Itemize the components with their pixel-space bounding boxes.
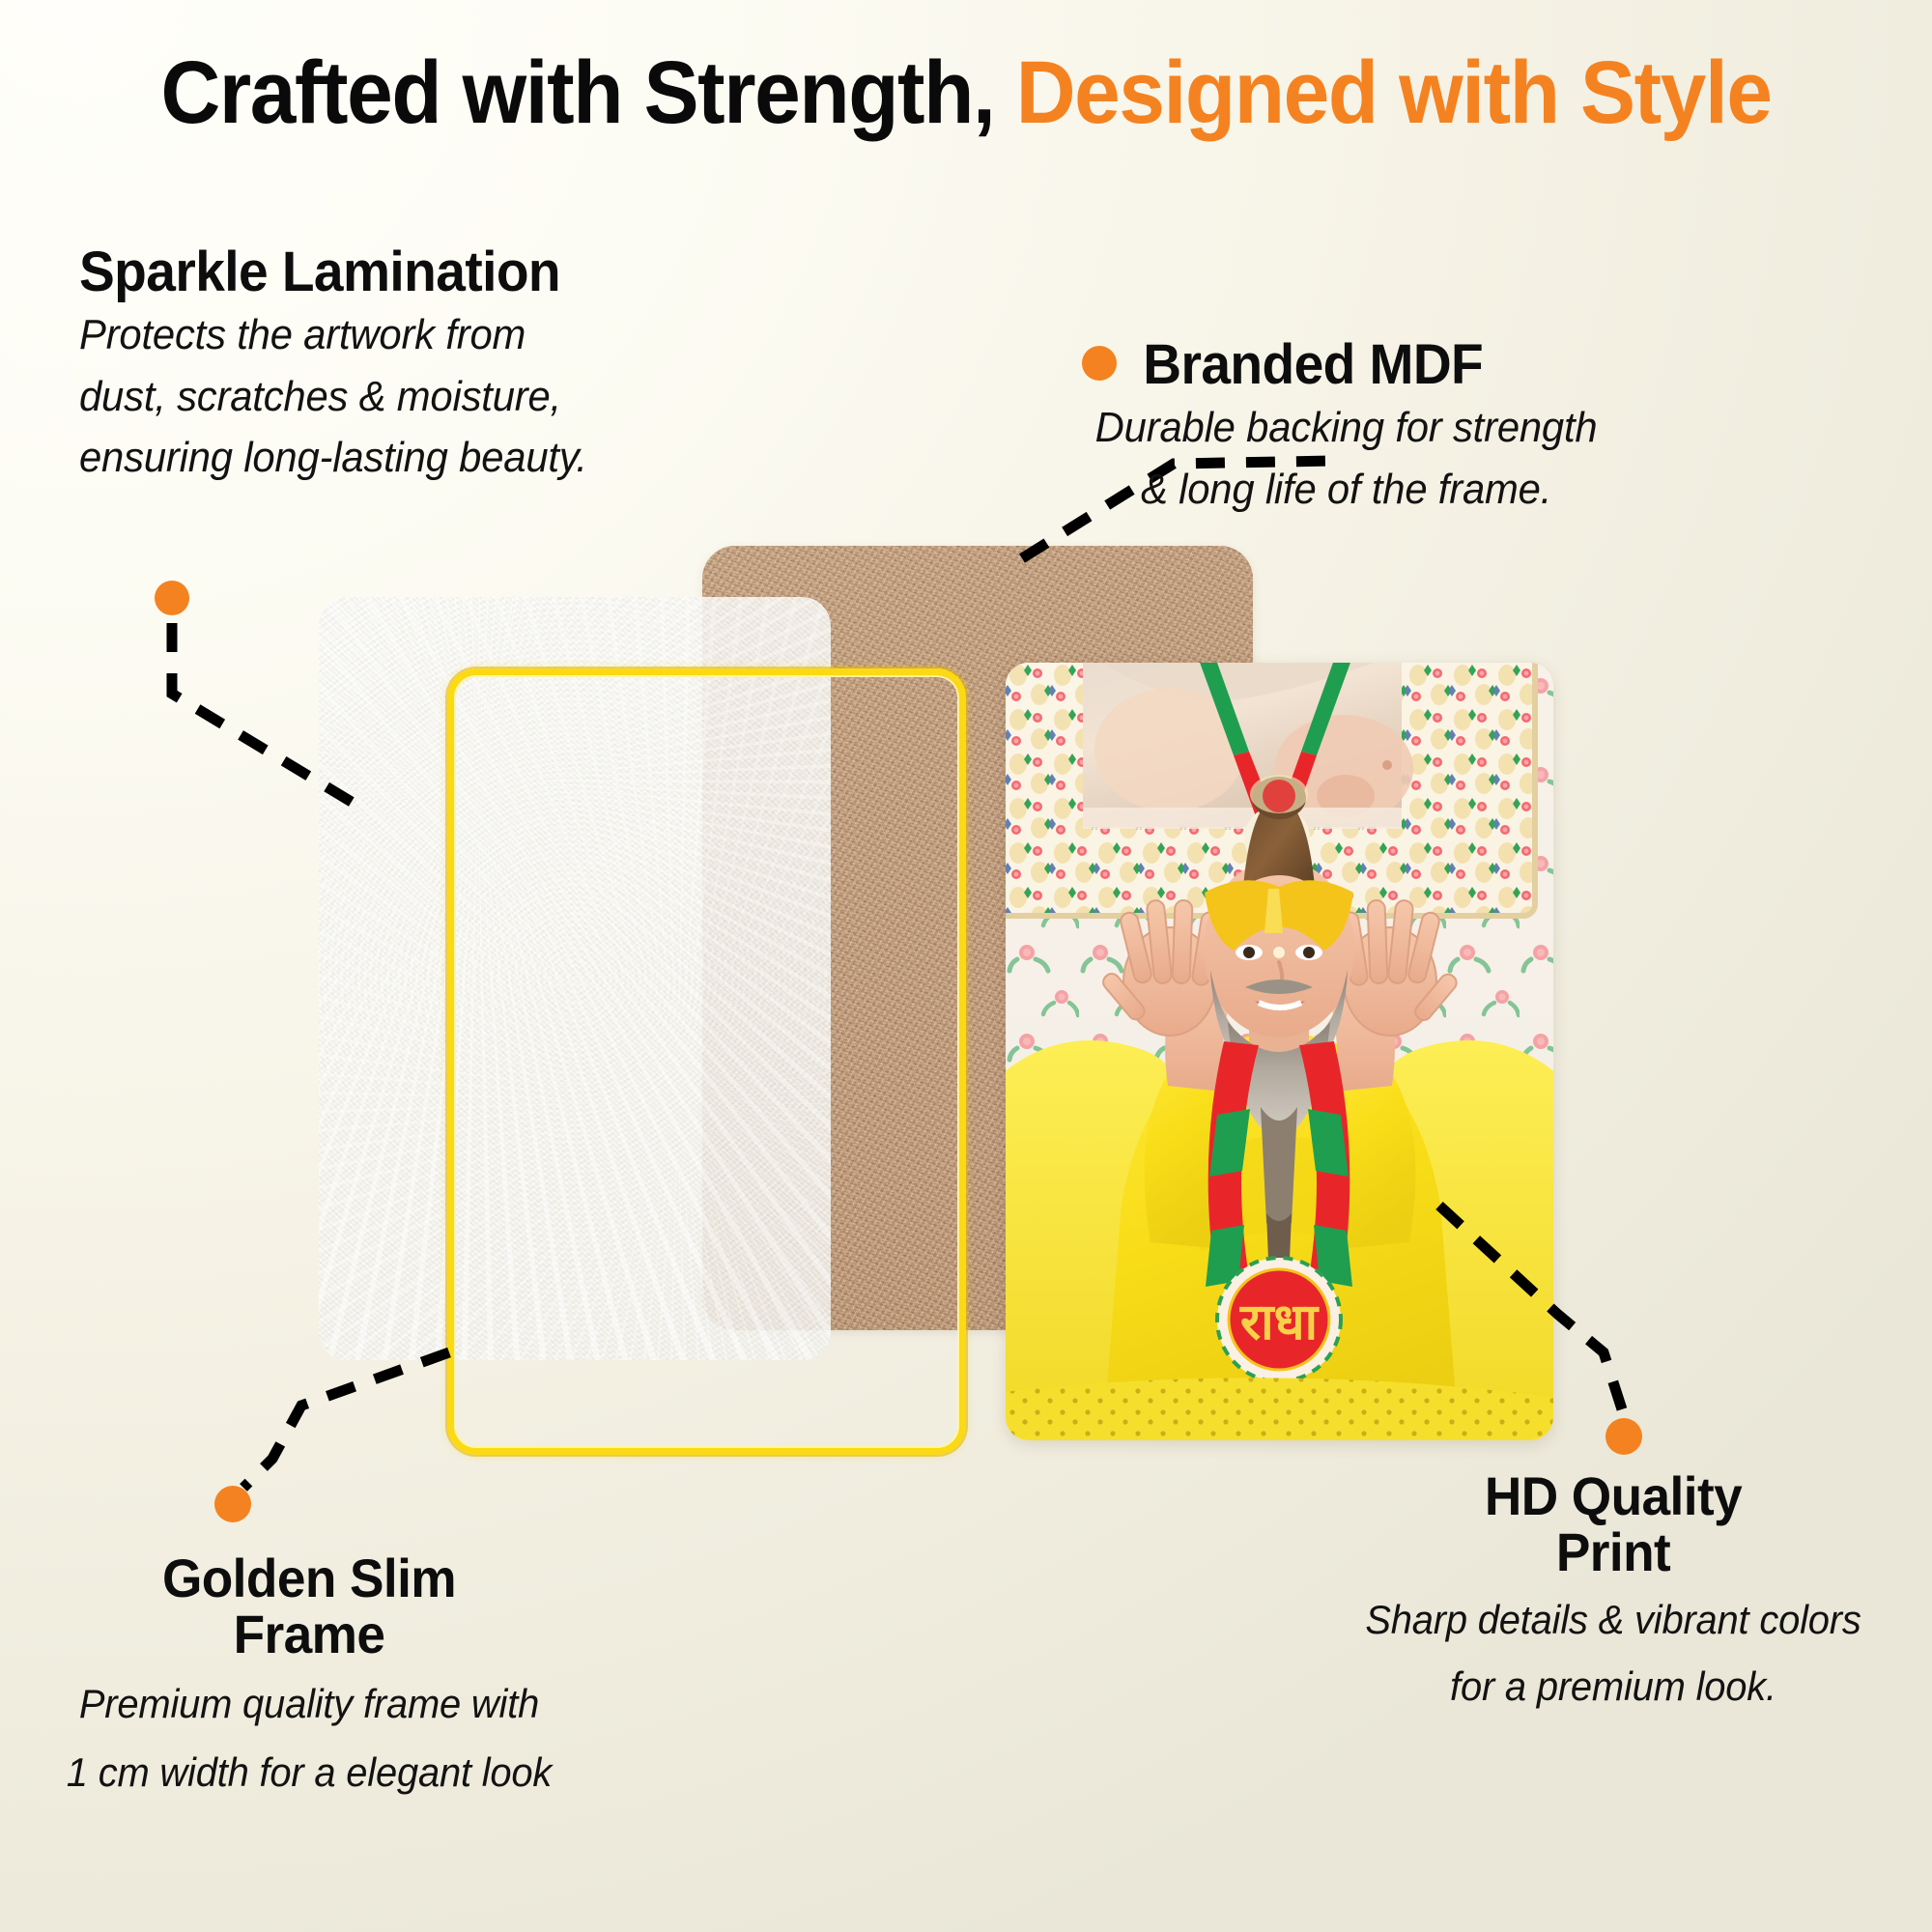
callout-body-sparkle-lamination-line2: dust, scratches & moisture, [79,369,587,424]
bullet-dot-hd-quality-print [1605,1418,1642,1455]
callout-golden-slim-frame: Golden Slim Frame Premium quality frame … [0,1550,618,1800]
callout-body-golden-slim-frame-line2: 1 cm width for a elegant look [15,1747,603,1800]
callout-heading-row-branded-mdf: Branded MDF [1082,336,1610,394]
callout-body-sparkle-lamination-line1: Protects the artwork from [79,307,587,362]
golden-slim-frame-outline [447,668,966,1455]
medallion-text: राधा [1239,1293,1321,1351]
callout-heading-branded-mdf: Branded MDF [1143,336,1483,394]
callout-hd-quality-print: HD Quality Print Sharp details & vibrant… [1294,1468,1932,1714]
callout-branded-mdf: Branded MDF Durable backing for strength… [1082,336,1610,517]
bullet-dot-golden-slim-frame [214,1486,251,1522]
callout-heading-hd-quality-print-line1: HD Quality [1311,1468,1917,1524]
callout-heading-golden-slim-frame-line2: Frame [15,1606,603,1662]
callout-heading-golden-slim-frame-line1: Golden Slim [15,1550,603,1606]
callout-heading-sparkle-lamination: Sparkle Lamination [79,243,587,301]
callout-body-golden-slim-frame-line1: Premium quality frame with [15,1678,603,1731]
callout-sparkle-lamination: Sparkle Lamination Protects the artwork … [79,243,614,485]
hd-quality-photo-print: राधा [1006,663,1553,1440]
callout-heading-hd-quality-print-line2: Print [1311,1524,1917,1580]
bullet-dot-branded-mdf [1082,346,1117,381]
callout-body-hd-quality-print-line1: Sharp details & vibrant colors [1311,1594,1917,1647]
photo-illustration: राधा [1006,663,1553,1440]
callout-body-branded-mdf-line2: & long life of the frame. [1095,462,1598,517]
callout-body-sparkle-lamination-line3: ensuring long-lasting beauty. [79,430,587,485]
callout-body-hd-quality-print-line2: for a premium look. [1311,1661,1917,1714]
bullet-dot-sparkle-lamination [155,581,189,615]
callout-body-branded-mdf-line1: Durable backing for strength [1095,400,1598,455]
infographic-canvas: Crafted with Strength, Designed with Sty… [0,0,1932,1932]
